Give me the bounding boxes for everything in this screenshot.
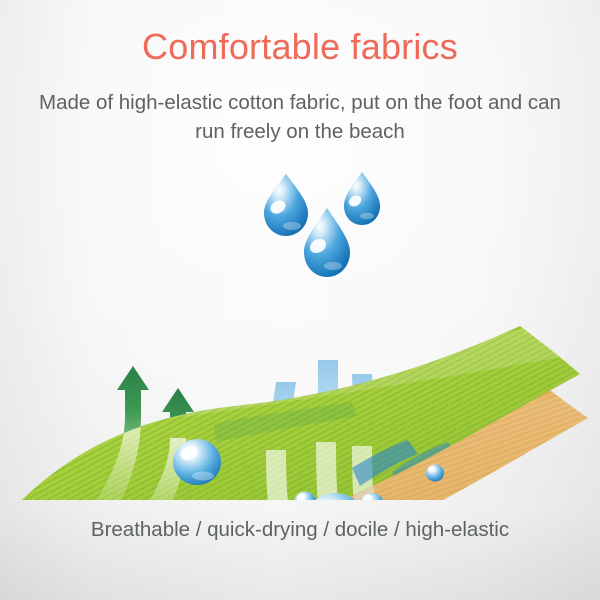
feature-caption: Breathable / quick-drying / docile / hig… (0, 518, 600, 542)
water-bead (426, 465, 444, 482)
page-subtitle: Made of high-elastic cotton fabric, put … (0, 88, 600, 146)
water-droplet (264, 174, 308, 236)
breathable-fabric-illustration (0, 150, 600, 500)
water-droplet (344, 172, 380, 225)
page-title: Comfortable fabrics (0, 26, 600, 68)
rising-droplets (264, 172, 380, 277)
water-droplet (304, 208, 350, 277)
water-bead (173, 439, 221, 485)
fabric-layer-green (0, 300, 600, 500)
poster-canvas: Comfortable fabrics Made of high-elastic… (0, 0, 600, 600)
